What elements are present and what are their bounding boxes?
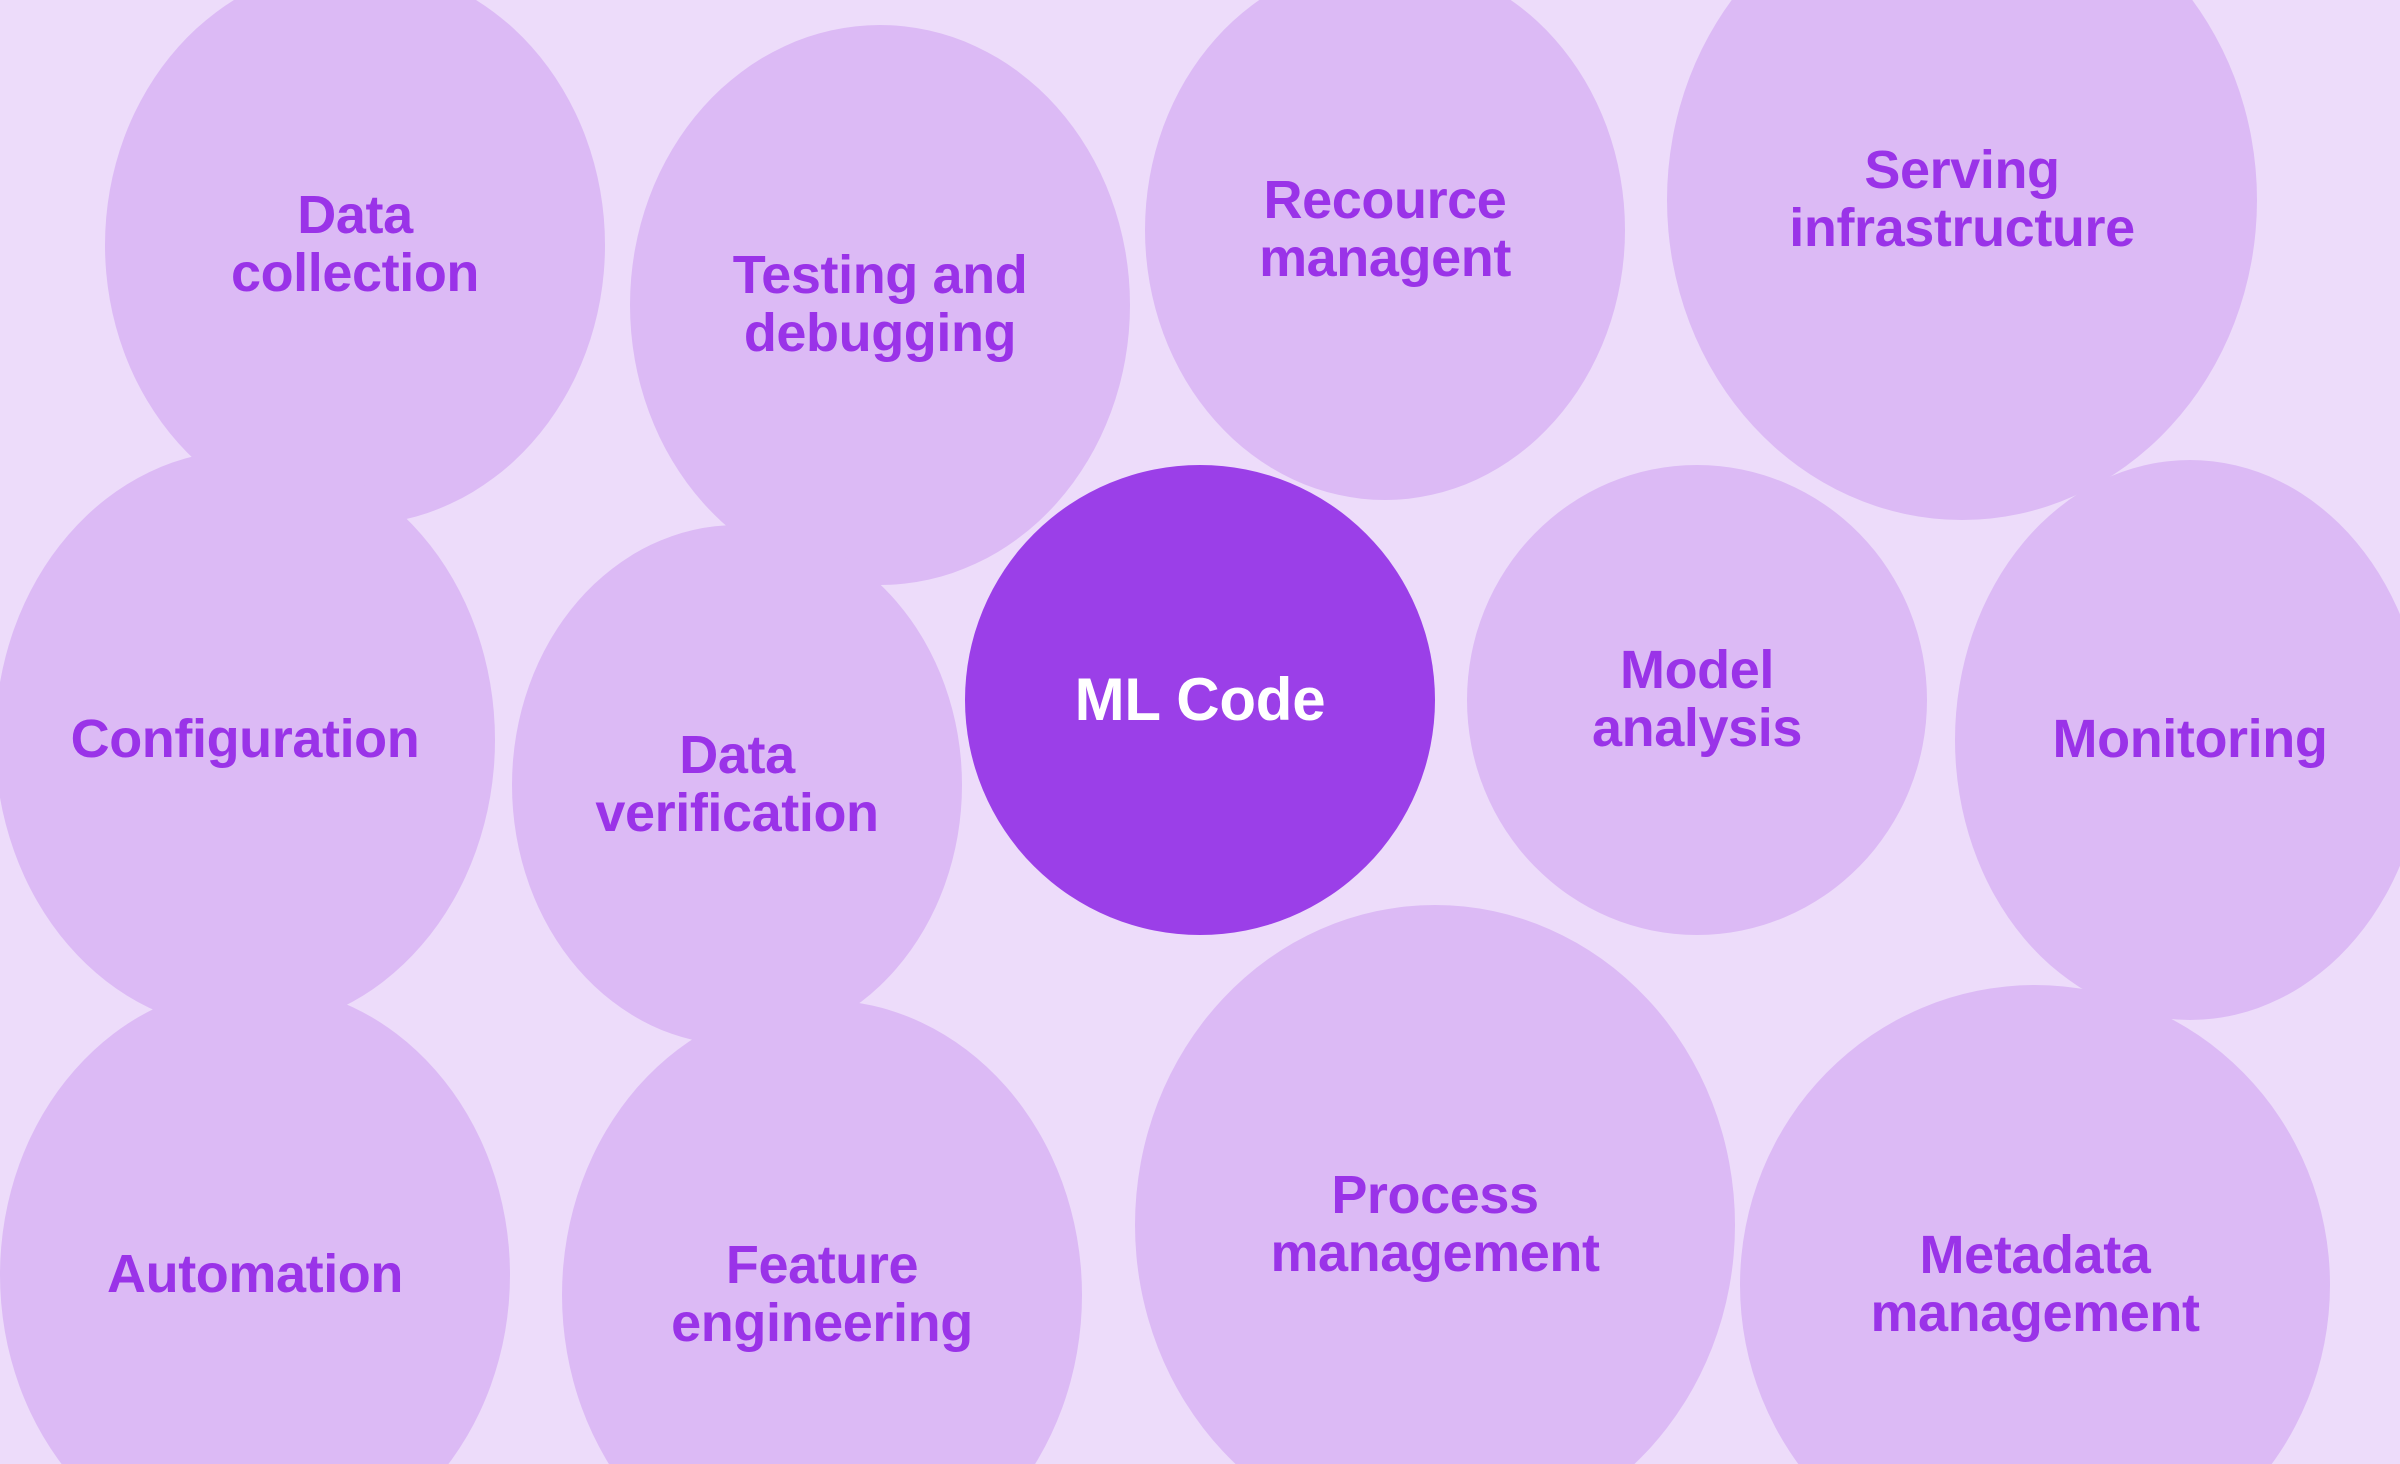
diagram-canvas: Data collectionTesting and debuggingReco… (0, 0, 2400, 1464)
bubble-label-testing-and-debugging: Testing and debugging (727, 247, 1034, 363)
bubble-label-monitoring: Monitoring (2047, 711, 2334, 769)
bubble-label-process-management: Process management (1264, 1167, 1605, 1283)
bubble-model-analysis[interactable]: Model analysis (1467, 465, 1927, 935)
bubble-label-model-analysis: Model analysis (1586, 642, 1808, 758)
bubble-label-serving-infrastructure: Serving infrastructure (1783, 142, 2140, 258)
bubble-monitoring[interactable]: Monitoring (1955, 460, 2400, 1020)
bubble-label-data-collection: Data collection (225, 187, 485, 303)
center-bubble-ml-code[interactable]: ML Code (965, 465, 1435, 935)
bubble-label-metadata-management: Metadata management (1864, 1227, 2205, 1343)
bubble-configuration[interactable]: Configuration (0, 450, 495, 1030)
bubble-label-data-verification: Data verification (589, 727, 884, 843)
bubble-label-automation: Automation (101, 1246, 409, 1304)
bubble-label-feature-engineering: Feature engineering (665, 1237, 979, 1353)
bubble-label-configuration: Configuration (65, 711, 426, 769)
bubble-label-recource-managent: Recource managent (1253, 172, 1517, 288)
bubble-data-verification[interactable]: Data verification (512, 525, 962, 1045)
bubble-testing-and-debugging[interactable]: Testing and debugging (630, 25, 1130, 585)
center-bubble-label: ML Code (1069, 668, 1332, 732)
